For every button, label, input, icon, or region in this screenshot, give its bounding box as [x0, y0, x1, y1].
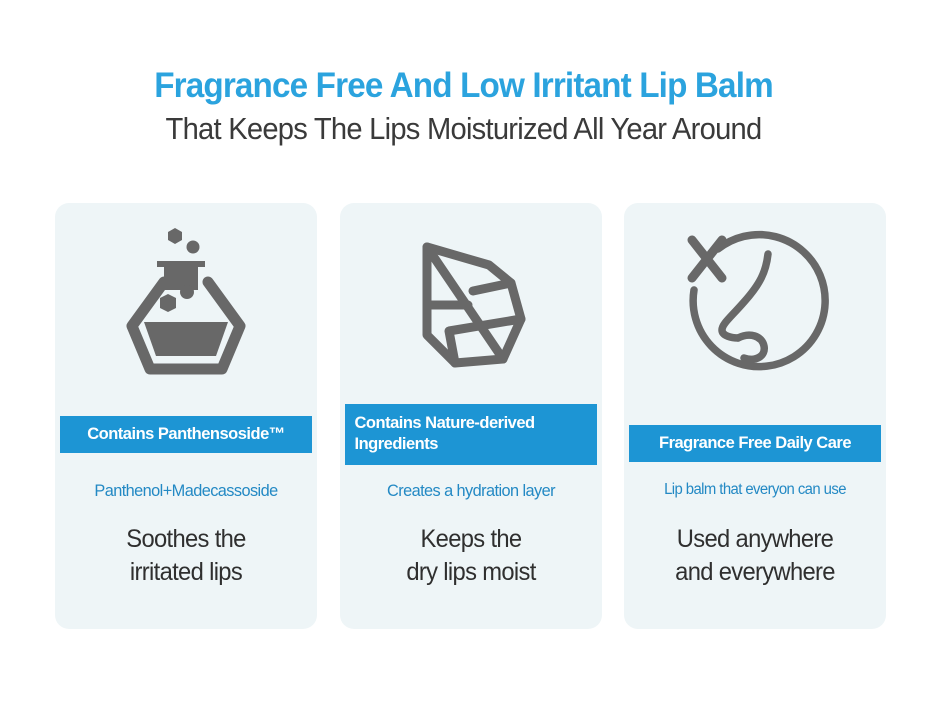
card-description-line-2: and everywhere	[631, 556, 880, 589]
card-banner-slot: Fragrance Free Daily Care	[629, 413, 881, 473]
card-banner-line-1: Contains Nature-derived	[355, 414, 535, 432]
feature-card-nature-derived[interactable]: Contains Nature-derived Ingredients Crea…	[340, 203, 602, 629]
card-description: Used anywhere and everywhere	[631, 523, 880, 589]
card-icon-area	[624, 203, 886, 399]
card-banner-line-2: Ingredients	[355, 435, 438, 453]
card-icon-area	[55, 203, 317, 399]
card-subcaption: Panthenol+Madecassoside	[64, 481, 308, 501]
card-description-line-2: dry lips moist	[346, 556, 595, 589]
card-description: Keeps the dry lips moist	[346, 523, 595, 589]
card-icon-area	[340, 203, 602, 399]
card-banner-slot: Contains Nature-derived Ingredients	[345, 391, 597, 477]
flask-icon	[120, 226, 252, 376]
feature-card-panthensoside[interactable]: Contains Panthensoside™ Panthenol+Madeca…	[55, 203, 317, 629]
card-subcaption: Creates a hydration layer	[349, 481, 593, 501]
card-banner-title: Contains Nature-derived Ingredients	[345, 404, 597, 465]
leaf-icon	[411, 227, 531, 375]
card-description: Soothes the irritated lips	[62, 523, 311, 589]
feature-card-row: Contains Panthensoside™ Panthenol+Madeca…	[55, 203, 886, 629]
card-description-line-2: irritated lips	[62, 556, 311, 589]
card-description-line-1: Soothes the	[62, 523, 311, 556]
nose-no-smell-icon	[680, 228, 830, 374]
card-banner-title: Fragrance Free Daily Care	[629, 425, 881, 462]
card-subcaption: Lip balm that everyon can use	[633, 481, 877, 499]
page-header: Fragrance Free And Low Irritant Lip Balm…	[0, 66, 927, 148]
card-banner-title: Contains Panthensoside™	[60, 416, 312, 453]
card-banner-slot: Contains Panthensoside™	[60, 399, 312, 469]
card-description-line-1: Used anywhere	[631, 523, 880, 556]
feature-card-fragrance-free[interactable]: Fragrance Free Daily Care Lip balm that …	[624, 203, 886, 629]
headline-secondary: That Keeps The Lips Moisturized All Year…	[28, 110, 899, 148]
headline-primary: Fragrance Free And Low Irritant Lip Balm	[23, 66, 904, 106]
card-description-line-1: Keeps the	[346, 523, 595, 556]
